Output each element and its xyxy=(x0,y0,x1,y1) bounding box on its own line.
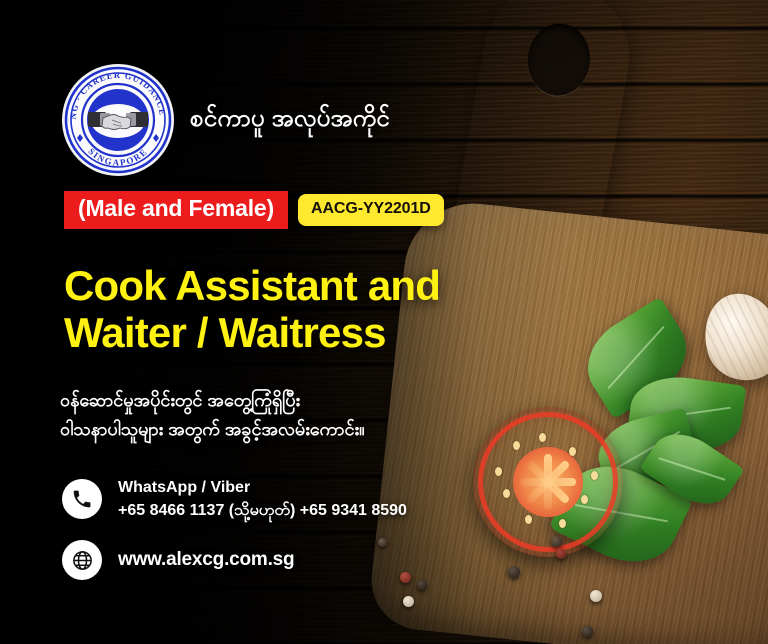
job-description-line1: ဝန်ဆောင်မှုအပိုင်းတွင် အတွေ့ကြုံရှိပြီး xyxy=(60,386,490,415)
job-code-badge: AACG-YY2201D xyxy=(298,194,444,225)
job-description-line2: ဝါသနာပါသူများ အတွက် အခွင့်အလမ်းကောင်း။ xyxy=(60,415,490,444)
job-title: Cook Assistant and Waiter / Waitress xyxy=(64,262,534,357)
contact-phone-number: +65 8466 1137 (သို့မဟုတ်) +65 9341 8590 xyxy=(118,499,407,522)
company-logo: ALEX AUNG · CAREER GUIDANCE SERVICE SING… xyxy=(62,64,174,176)
website-url: www.alexcg.com.sg xyxy=(118,549,294,571)
contact-website[interactable]: www.alexcg.com.sg xyxy=(62,540,294,580)
phone-icon xyxy=(62,479,102,519)
gender-badge: (Male and Female) xyxy=(64,191,288,229)
brand-row: ALEX AUNG · CAREER GUIDANCE SERVICE SING… xyxy=(62,64,390,176)
poster-content: ALEX AUNG · CAREER GUIDANCE SERVICE SING… xyxy=(0,0,768,644)
job-description: ဝန်ဆောင်မှုအပိုင်းတွင် အတွေ့ကြုံရှိပြီး … xyxy=(60,386,490,444)
organisation-title: စင်ကာပူ အလုပ်အကိုင် xyxy=(190,102,390,138)
handshake-circle-logo-icon: ALEX AUNG · CAREER GUIDANCE SERVICE SING… xyxy=(62,64,174,176)
badge-row: (Male and Female) AACG-YY2201D xyxy=(64,191,444,229)
job-title-line1: Cook Assistant and xyxy=(64,262,440,309)
job-title-line2: Waiter / Waitress xyxy=(64,309,534,356)
contact-phone-text: WhatsApp / Viber +65 8466 1137 (သို့မဟုတ… xyxy=(118,476,407,522)
job-advertisement-poster: ALEX AUNG · CAREER GUIDANCE SERVICE SING… xyxy=(0,0,768,644)
contact-phone-label: WhatsApp / Viber xyxy=(118,476,407,499)
contact-phone[interactable]: WhatsApp / Viber +65 8466 1137 (သို့မဟုတ… xyxy=(62,476,407,522)
globe-icon xyxy=(62,540,102,580)
